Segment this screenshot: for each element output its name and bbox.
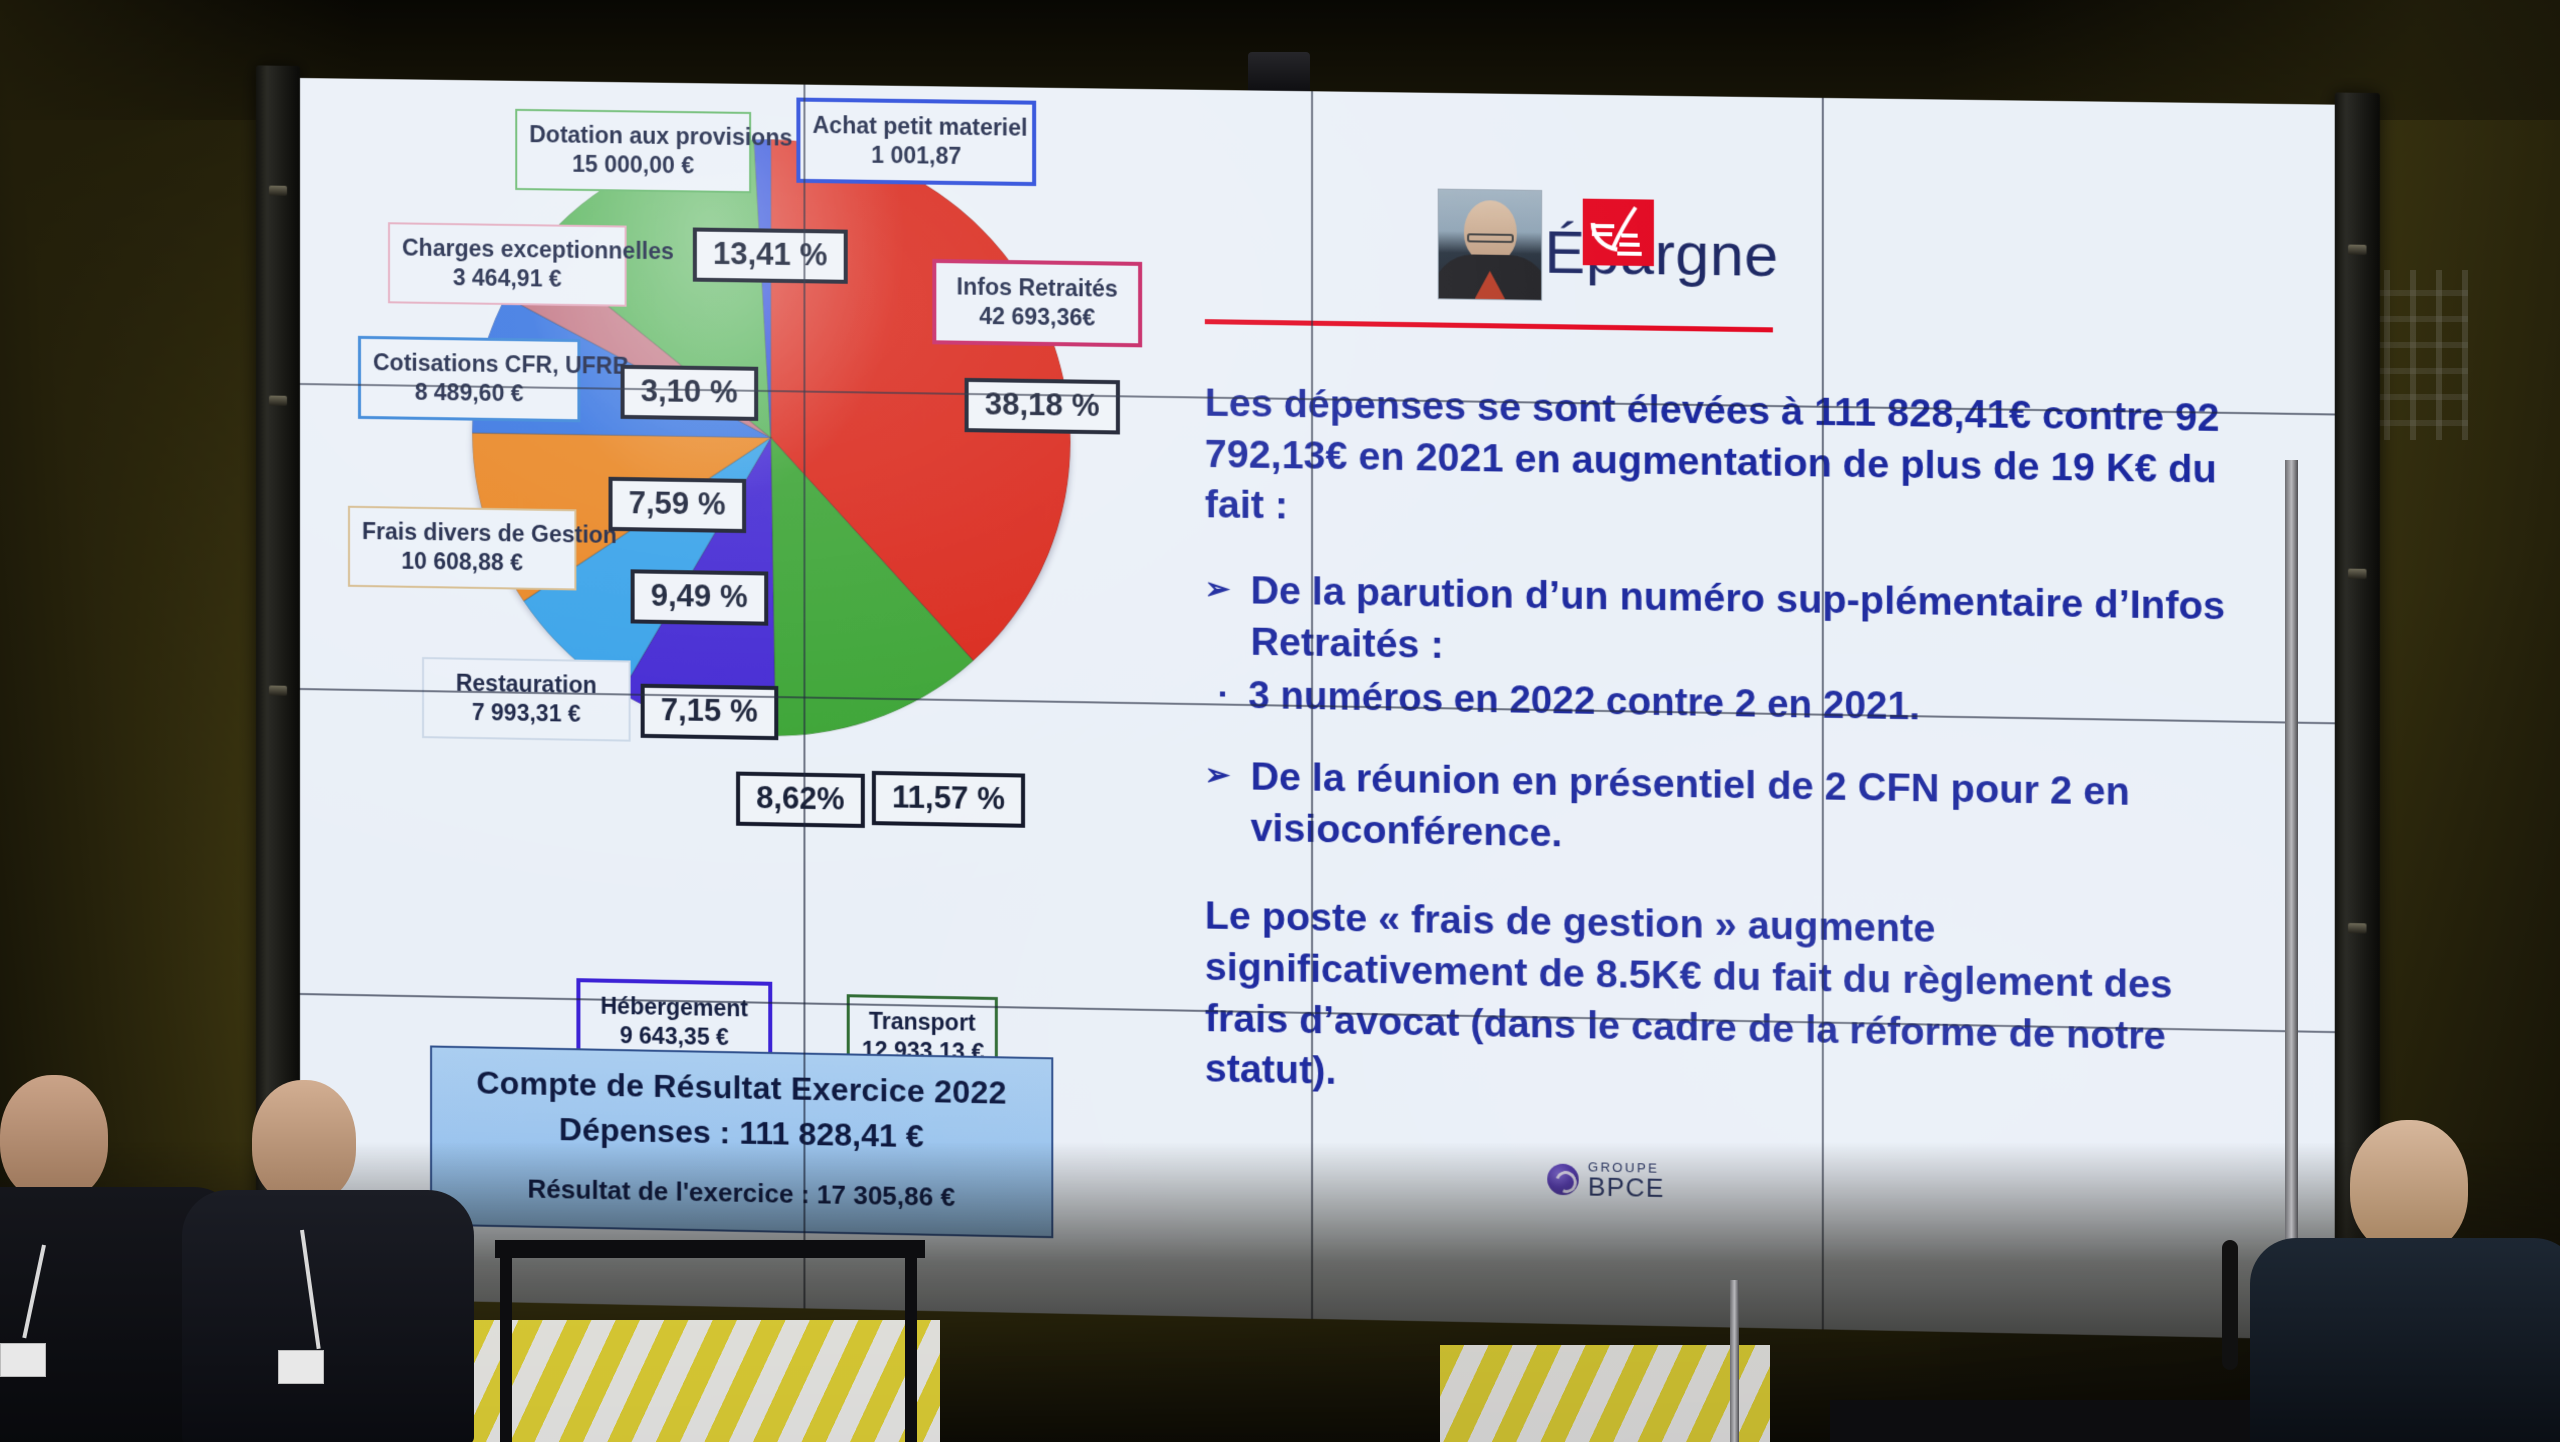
standing-man-center — [200, 1080, 460, 1442]
callout-achat-petit-materiel: Achat petit materiel 1 001,87 — [796, 98, 1036, 186]
speaker-photo — [1438, 189, 1542, 301]
lectern-leg-1 — [500, 1258, 512, 1442]
pct-frais-divers: 9,49 % — [631, 569, 768, 625]
pct-charges: 3,10 % — [621, 365, 758, 421]
wall-mount-pole-mid — [1730, 1280, 1739, 1442]
callout-label: Restauration — [456, 670, 597, 698]
callout-label: Cotisations CFR, UFRB… — [373, 349, 652, 379]
arrow-bullet-icon: ➢ — [1205, 751, 1230, 800]
floor-banner-right — [1440, 1345, 1770, 1442]
pct-restauration: 7,15 % — [641, 684, 778, 740]
callout-label: Transport — [869, 1008, 976, 1036]
seated-man-right — [2240, 1120, 2560, 1442]
pct-transport: 11,57 % — [872, 771, 1025, 828]
right-paragraph-2: Le poste « frais de gestion » augmente s… — [1205, 891, 2232, 1115]
pct-infos-retraites: 38,18 % — [965, 378, 1120, 434]
callout-amount: 7 993,31 € — [436, 698, 616, 731]
callout-amount: 1 001,87 — [813, 140, 1021, 172]
right-paragraph-1: Les dépenses se sont élevées à 111 828,4… — [1205, 378, 2232, 547]
right-bullet-list: ➢ De la parution d’un numéro sup-plément… — [1205, 566, 2232, 872]
bullet-item-2: ➢ De la réunion en présentiel de 2 CFN p… — [1205, 751, 2232, 871]
right-text-panel: Les dépenses se sont élevées à 111 828,4… — [1205, 378, 2232, 1115]
callout-label: Hébergement — [600, 993, 748, 1022]
table-right — [1830, 1400, 2280, 1442]
lectern-leg-2 — [905, 1258, 917, 1442]
callout-amount: 42 693,36€ — [948, 302, 1126, 334]
callout-label: Dotation aux provisions — [529, 121, 792, 151]
lectern-table-center — [495, 1240, 925, 1258]
callout-label: Infos Retraités — [957, 273, 1118, 301]
square-bullet-icon: ▪ — [1219, 672, 1226, 718]
callout-amount: 15 000,00 € — [529, 150, 737, 182]
callout-frais-divers-de-gestion: Frais divers de Gestion 10 608,88 € — [348, 506, 576, 591]
arrow-bullet-icon: ➢ — [1205, 566, 1230, 615]
callout-amount: 8 489,60 € — [373, 378, 565, 410]
pct-dotation: 13,41 % — [693, 227, 848, 283]
projector-mount — [1248, 52, 1310, 94]
callout-restauration: Restauration 7 993,31 € — [422, 657, 631, 742]
bullet-item-1-text: De la parution d’un numéro sup-plémentai… — [1250, 566, 2232, 684]
floor-banner — [470, 1320, 940, 1442]
bullet-item-1: ➢ De la parution d’un numéro sup-plément… — [1205, 566, 2232, 685]
callout-amount: 10 608,88 € — [362, 546, 562, 579]
callout-amount: 3 464,91 € — [402, 263, 612, 295]
sub-bullet-item-1-text: 3 numéros en 2022 contre 2 en 2021. — [1248, 672, 1919, 733]
callout-charges-exceptionnelles: Charges exceptionnelles 3 464,91 € — [388, 222, 627, 306]
pct-cotisations: 7,59 % — [609, 477, 746, 533]
callout-label: Charges exceptionnelles — [402, 234, 674, 264]
pct-hebergement: 8,62% — [736, 772, 865, 828]
callout-cotisations-cfr-ufrb: Cotisations CFR, UFRB… 8 489,60 € — [358, 336, 580, 422]
bullet-item-2-text: De la réunion en présentiel de 2 CFN pou… — [1250, 752, 2232, 871]
callout-label: Frais divers de Gestion — [362, 518, 617, 548]
caisse-epargne-logo-icon — [1583, 199, 1654, 267]
callout-label: Achat petit materiel — [813, 112, 1028, 141]
callout-dotation-aux-provisions: Dotation aux provisions 15 000,00 € — [515, 109, 751, 193]
microphone-icon — [2222, 1240, 2238, 1370]
callout-infos-retraites: Infos Retraités 42 693,36€ — [932, 259, 1142, 347]
conference-room-scene: Dotation aux provisions 15 000,00 € Char… — [0, 0, 2560, 1442]
summary-title: Compte de Résultat Exercice 2022 — [432, 1064, 1051, 1113]
header-accent-rule — [1205, 319, 1773, 332]
